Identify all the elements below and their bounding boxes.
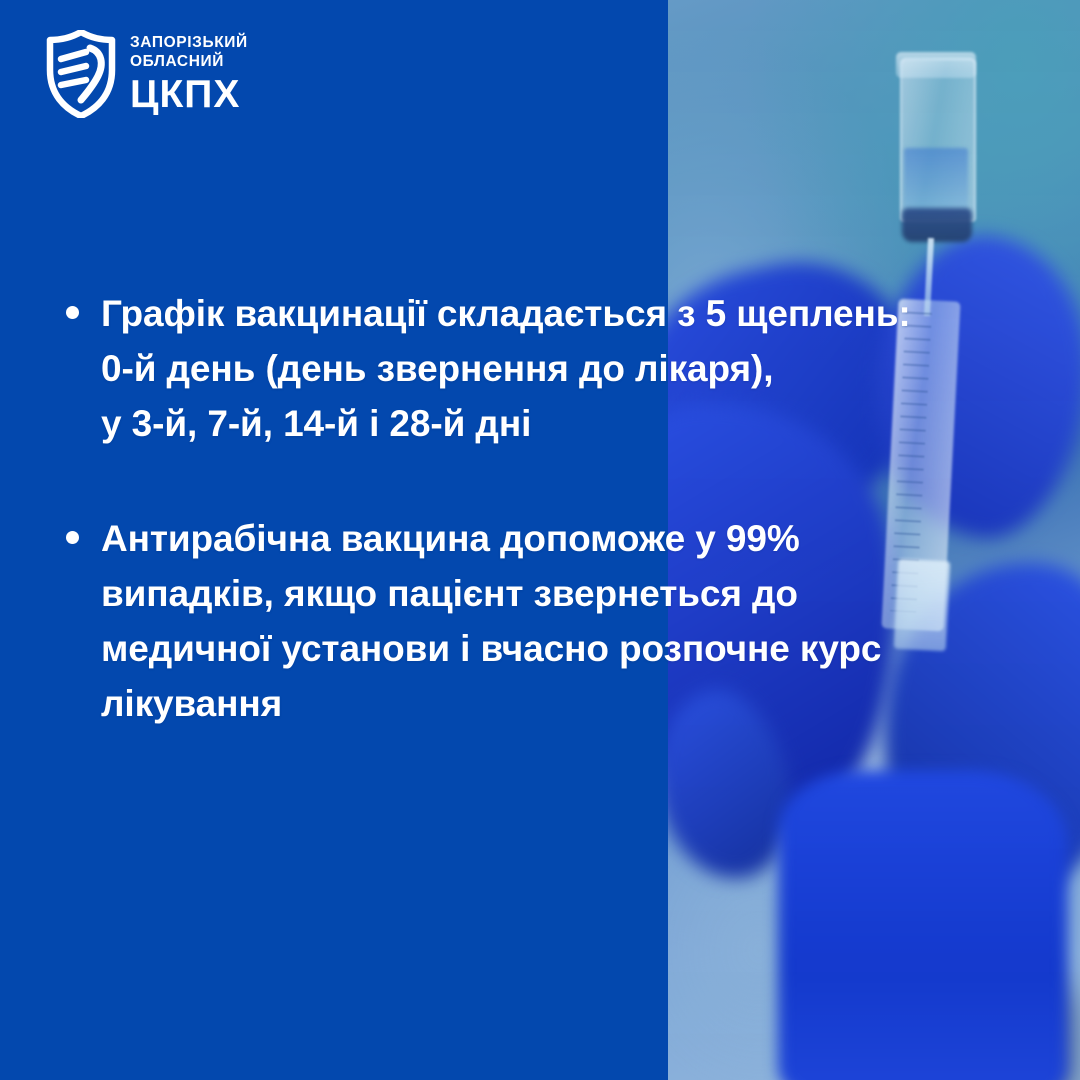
shield-logo-icon — [46, 30, 116, 118]
logo-abbreviation: ЦКПХ — [130, 75, 248, 114]
bullet-text: Графік вакцинації складається з 5 щеплен… — [101, 286, 911, 451]
bullet-list: Графік вакцинації складається з 5 щеплен… — [66, 286, 1026, 731]
logo-text-block: ЗАПОРІЗЬКИЙ ОБЛАСНИЙ ЦКПХ — [130, 35, 248, 114]
list-item: Графік вакцинації складається з 5 щеплен… — [66, 286, 1026, 451]
list-item: Антирабічна вакцина допоможе у 99% випад… — [66, 511, 1026, 731]
logo-line-1: ЗАПОРІЗЬКИЙ — [130, 35, 248, 51]
bullet-dot-icon — [66, 306, 79, 319]
logo-line-2: ОБЛАСНИЙ — [130, 54, 248, 70]
bullet-text: Антирабічна вакцина допоможе у 99% випад… — [101, 511, 881, 731]
bullet-dot-icon — [66, 531, 79, 544]
organization-logo: ЗАПОРІЗЬКИЙ ОБЛАСНИЙ ЦКПХ — [46, 30, 248, 118]
infographic-canvas: ЗАПОРІЗЬКИЙ ОБЛАСНИЙ ЦКПХ Графік вакцина… — [0, 0, 1080, 1080]
